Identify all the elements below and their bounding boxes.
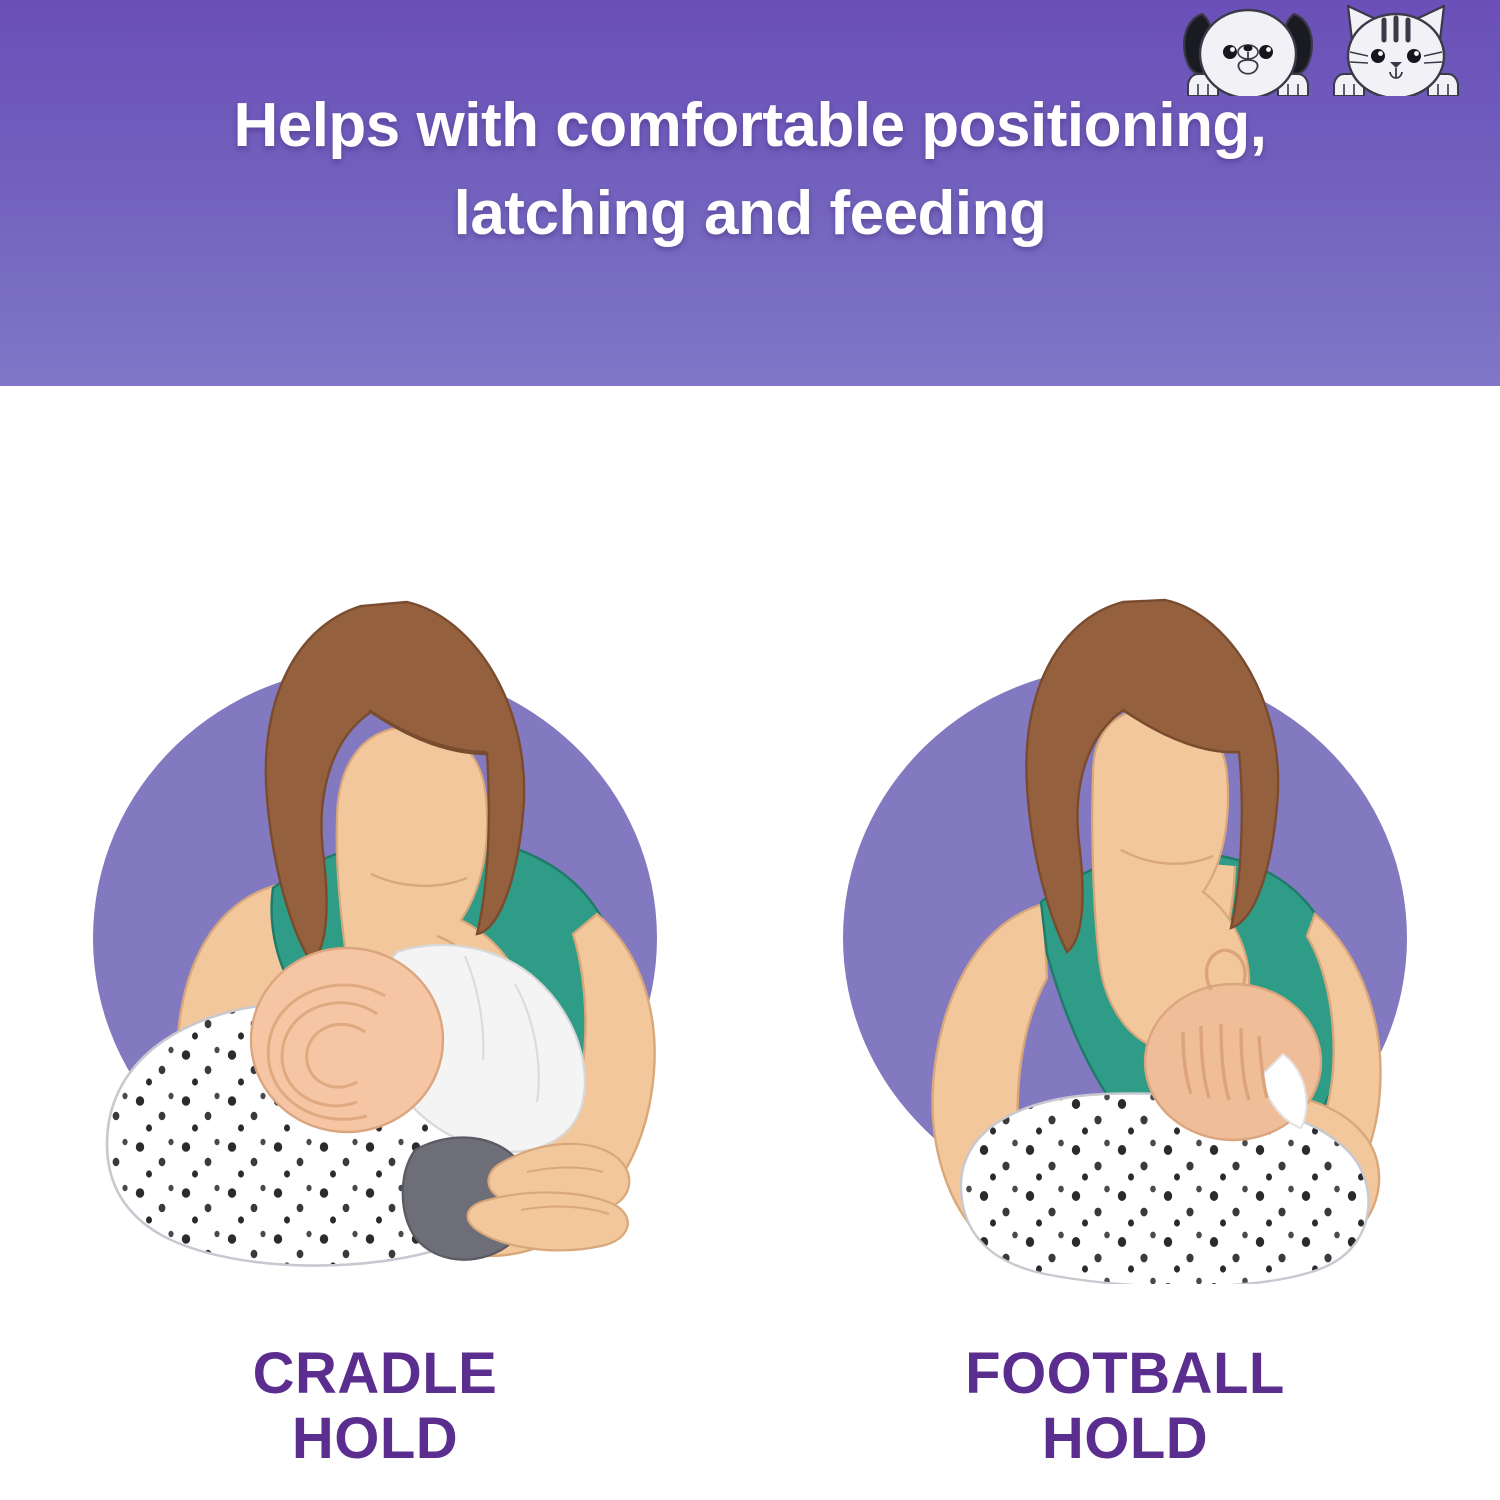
dog-peeking-icon: [1178, 0, 1318, 96]
peeking-pets-group: [1178, 0, 1478, 96]
cat-peeking-icon: [1326, 0, 1466, 96]
cradle-hold-label-line-2: HOLD: [0, 1407, 750, 1472]
football-hold-label-line-2: HOLD: [750, 1407, 1500, 1472]
football-hold-label: FOOTBALL HOLD: [750, 1342, 1500, 1472]
cradle-hold-label: CRADLE HOLD: [0, 1342, 750, 1472]
page-title-line-2: latching and feeding: [120, 170, 1380, 258]
cradle-hold-illustration: [85, 584, 665, 1284]
baby-head: [251, 948, 443, 1132]
panel-cradle-hold: CRADLE HOLD: [0, 386, 750, 1500]
page-title-line-1: Helps with comfortable positioning,: [233, 91, 1266, 160]
page-title: Helps with comfortable positioning, latc…: [0, 82, 1500, 258]
football-hold-illustration: [835, 584, 1415, 1284]
football-hold-label-line-1: FOOTBALL: [965, 1341, 1285, 1406]
cradle-hold-label-line-1: CRADLE: [253, 1341, 498, 1406]
panel-football-hold: FOOTBALL HOLD: [750, 386, 1500, 1500]
breastfeeding-positions-panels: CRADLE HOLD: [0, 386, 1500, 1500]
header-banner: Helps with comfortable positioning, latc…: [0, 0, 1500, 386]
